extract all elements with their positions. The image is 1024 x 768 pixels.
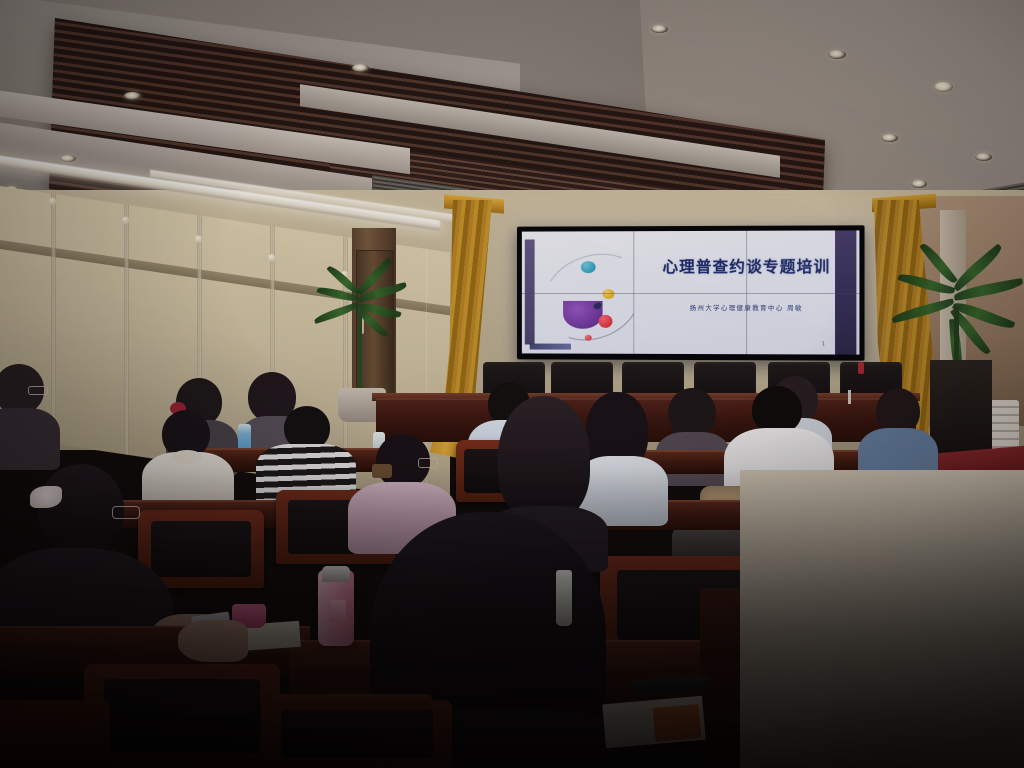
white-water-bottle[interactable] xyxy=(556,570,572,626)
plant-stem xyxy=(358,306,362,392)
eyeglasses-icon xyxy=(112,506,140,519)
floor-strip xyxy=(830,620,1024,768)
panel-cap xyxy=(195,235,203,244)
panel-cap xyxy=(49,197,57,206)
eyeglasses-icon xyxy=(418,458,438,468)
slide-page-number: 1 xyxy=(822,341,825,347)
yellow-dot-icon xyxy=(603,289,615,299)
teal-dot-icon xyxy=(581,261,596,273)
panel-cap xyxy=(122,216,130,225)
chair-foreground-center[interactable] xyxy=(262,700,452,768)
panel-stud xyxy=(51,193,56,444)
chair-back-left-edge[interactable] xyxy=(0,700,110,768)
person-torso xyxy=(0,408,60,470)
wall-panel xyxy=(53,194,128,455)
person-hair xyxy=(498,396,590,522)
thermos-cap xyxy=(322,566,350,582)
person-hand-left-foreground xyxy=(178,620,248,662)
small-red-dot-icon xyxy=(585,335,592,341)
collar xyxy=(172,450,202,464)
person-head xyxy=(752,386,802,434)
ceiling-downlight xyxy=(651,25,668,33)
ceiling-downlight xyxy=(60,155,76,162)
palm-frond xyxy=(891,298,956,323)
panel-seam xyxy=(522,292,860,293)
screen-surface: 心理普查约谈专题培训 扬州大学心理健康教育中心 周敏 1 xyxy=(522,230,860,354)
ceiling-downlight xyxy=(934,82,953,92)
notebook-orange-cover xyxy=(653,704,702,742)
led-video-wall[interactable]: 心理普查约谈专题培训 扬州大学心理健康教育中心 周敏 1 xyxy=(517,225,865,360)
ceiling-downlight xyxy=(124,92,141,100)
ceiling-downlight xyxy=(975,153,992,161)
person-head xyxy=(668,388,716,438)
chair-cushion xyxy=(281,710,433,759)
red-dot-icon xyxy=(599,315,613,328)
thermos-sticker xyxy=(330,600,346,622)
palm-frond xyxy=(313,302,359,324)
ceiling-downlight xyxy=(911,180,927,188)
slide-corner-tag xyxy=(530,344,571,350)
ceiling-downlight xyxy=(352,64,369,72)
eyeglasses-icon xyxy=(28,386,48,395)
red-marker-tag xyxy=(858,362,864,374)
conference-room-photo: 心理普查约谈专题培训 扬州大学心理健康教育中心 周敏 1 xyxy=(0,0,1024,768)
ceiling-downlight xyxy=(881,134,898,142)
chair-armrest xyxy=(272,694,432,706)
white-hair-bow xyxy=(30,486,62,508)
desk-microphone xyxy=(848,390,851,404)
chair-cushion xyxy=(151,521,252,577)
hair-claw-clip xyxy=(372,464,392,478)
chair-foreground-left[interactable] xyxy=(84,664,280,768)
ceiling-downlight xyxy=(828,50,846,59)
panel-stud xyxy=(124,204,129,455)
panel-cap xyxy=(268,254,276,263)
chair-cushion xyxy=(104,679,261,754)
